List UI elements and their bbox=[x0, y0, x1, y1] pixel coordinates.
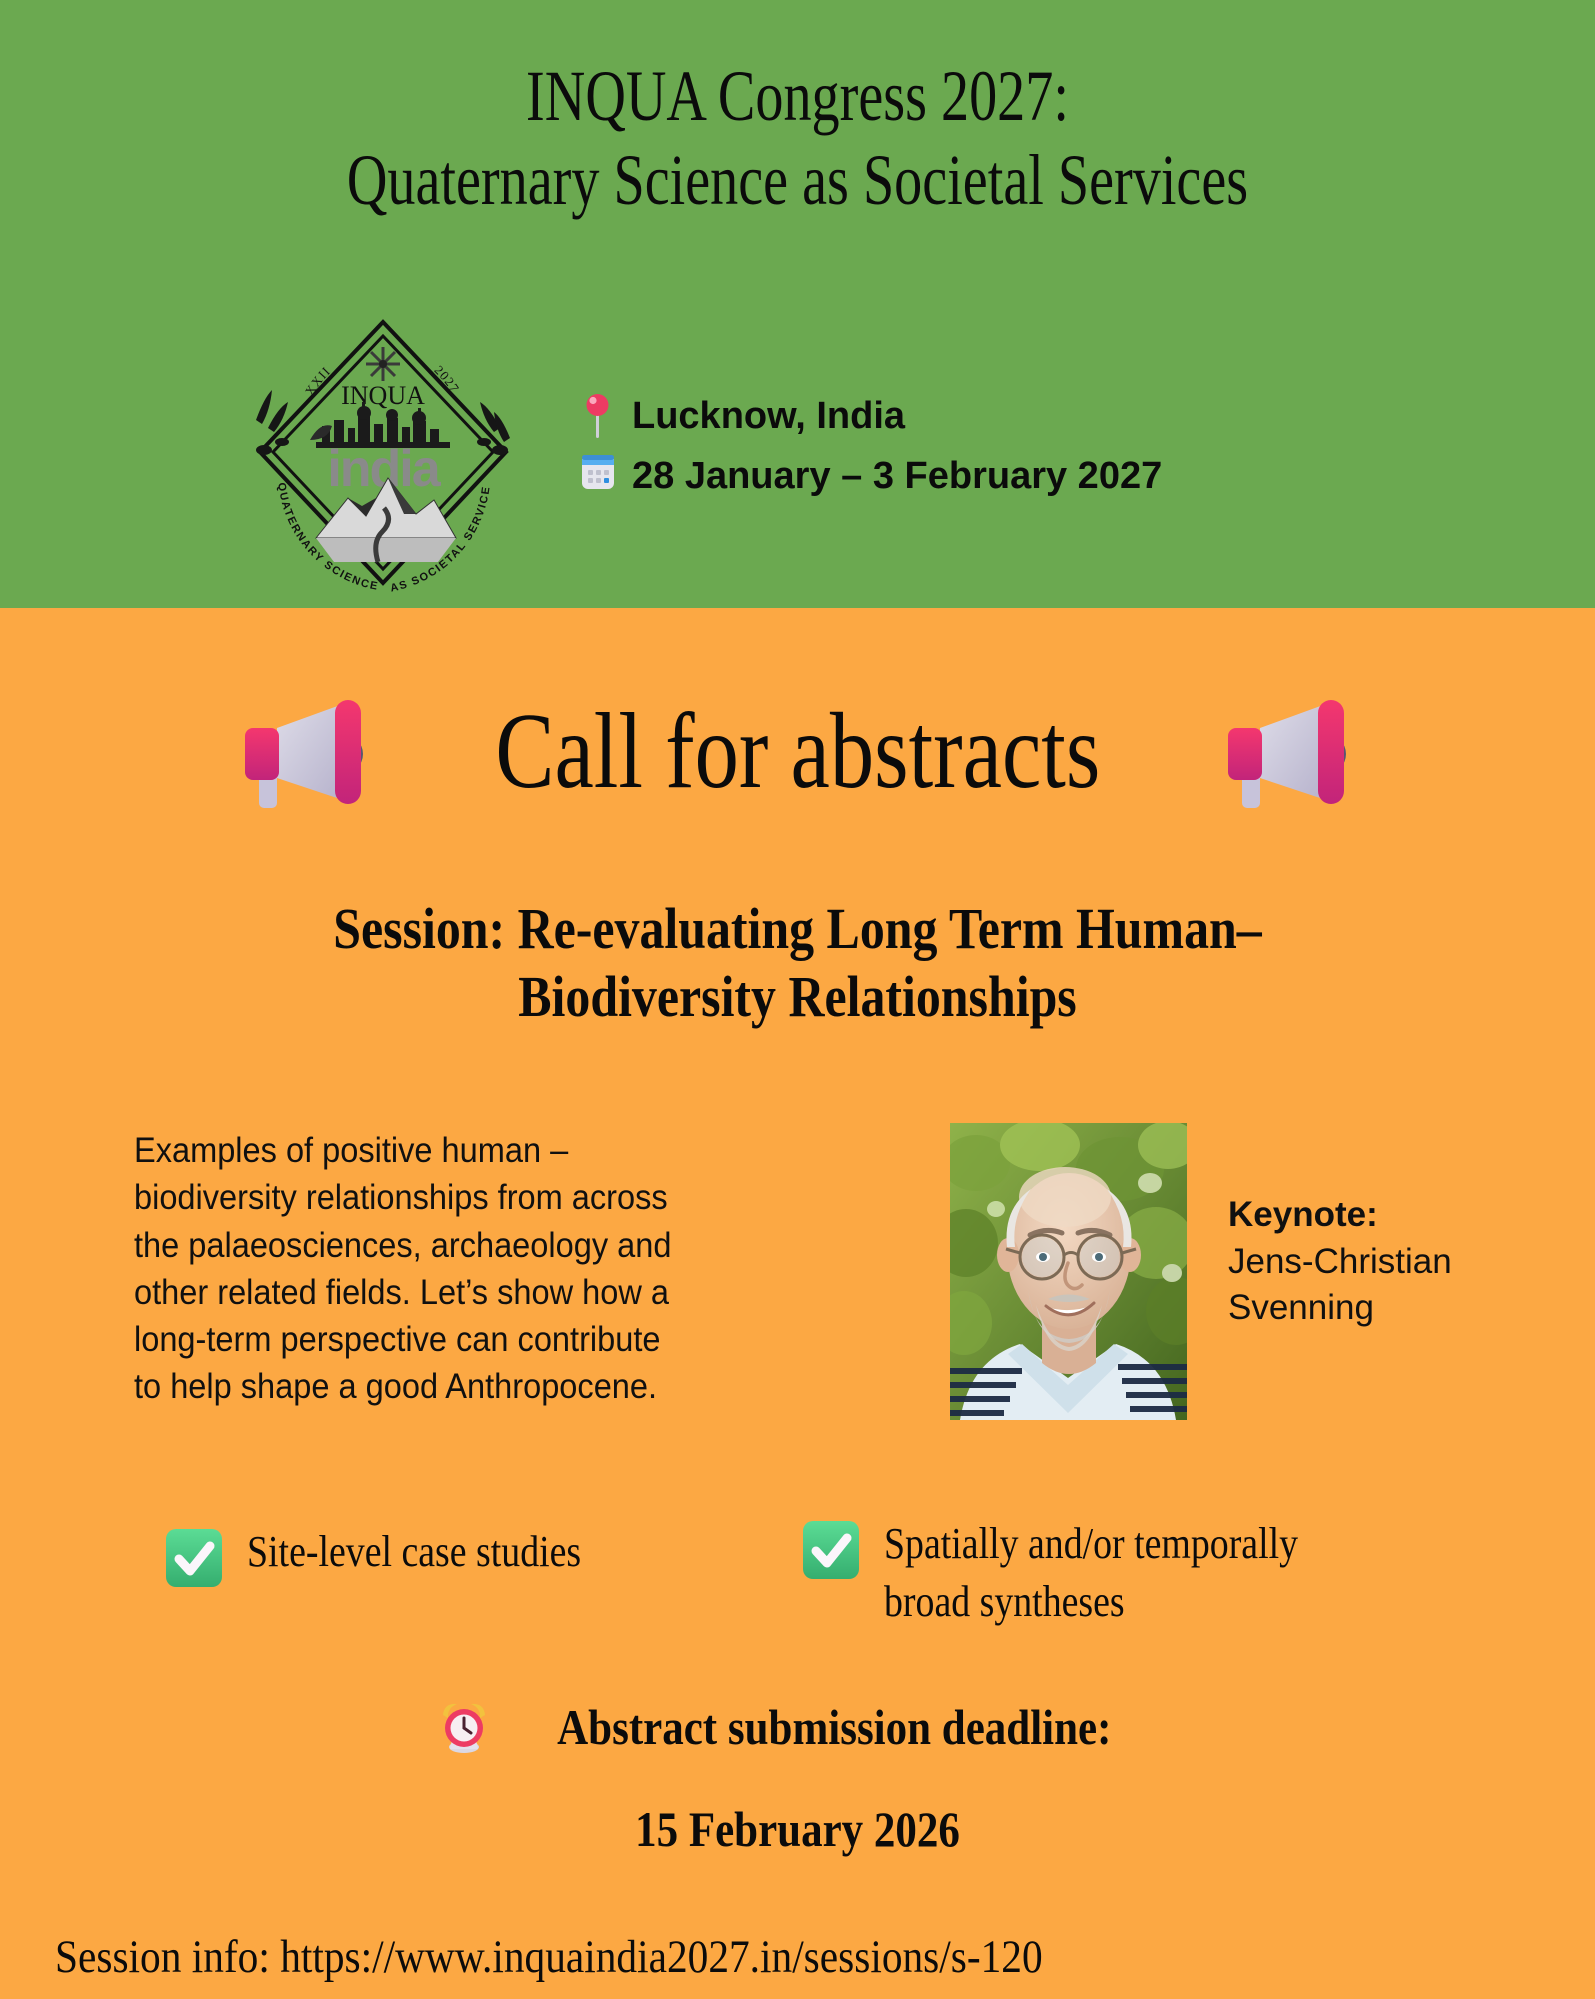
description-line-5: long-term perspective can contribute bbox=[134, 1316, 776, 1363]
inqua-india-logo: XXII 2027 INQUA india bbox=[238, 300, 528, 605]
abstract-types-list: Site-level case studies Spatially and/or… bbox=[0, 1523, 1595, 1663]
keynote-name-line-2: Svenning bbox=[1228, 1285, 1558, 1332]
list-item-label: Spatially and/or temporally broad synthe… bbox=[884, 1515, 1298, 1631]
keynote-speaker-photo bbox=[950, 1123, 1187, 1420]
session-description: Examples of positive human – biodiversit… bbox=[134, 1127, 776, 1411]
map-pin-icon bbox=[580, 392, 616, 440]
keynote-name-line-1: Jens-Christian bbox=[1228, 1239, 1558, 1286]
list-item-line-2: broad syntheses bbox=[884, 1573, 1298, 1631]
description-line-2: biodiversity relationships from across bbox=[134, 1174, 776, 1221]
list-item: Spatially and/or temporally broad synthe… bbox=[800, 1515, 1365, 1631]
list-item-line-1: Spatially and/or temporally bbox=[884, 1515, 1298, 1573]
megaphone-icon-left bbox=[231, 692, 381, 812]
keynote-info: Keynote: Jens-Christian Svenning bbox=[1228, 1192, 1558, 1332]
congress-title-line-2: Quaternary Science as Societal Services bbox=[175, 138, 1419, 222]
deadline-date: 15 February 2026 bbox=[112, 1800, 1484, 1858]
keynote-label: Keynote: bbox=[1228, 1192, 1558, 1239]
logo-inqua-text: INQUA bbox=[341, 381, 425, 410]
deadline-row: Abstract submission deadline: bbox=[0, 1698, 1595, 1756]
session-title: Session: Re-evaluating Long Term Human– … bbox=[172, 895, 1423, 1032]
megaphone-icon-right bbox=[1214, 692, 1364, 812]
venue-date-row: 28 January – 3 February 2027 bbox=[580, 452, 1280, 500]
call-for-abstracts-heading: Call for abstracts bbox=[495, 698, 1100, 806]
venue-date-text: 28 January – 3 February 2027 bbox=[632, 455, 1162, 498]
list-item: Site-level case studies bbox=[163, 1523, 636, 1589]
call-for-abstracts-row: Call for abstracts bbox=[0, 672, 1595, 832]
description-line-6: to help shape a good Anthropocene. bbox=[134, 1363, 776, 1410]
session-title-line-1: Session: Re-evaluating Long Term Human– bbox=[172, 895, 1423, 963]
check-mark-button-icon bbox=[800, 1519, 862, 1581]
venue-location-text: Lucknow, India bbox=[632, 395, 905, 438]
list-item-label: Site-level case studies bbox=[247, 1523, 581, 1581]
session-info-link[interactable]: Session info: https://www.inquaindia2027… bbox=[55, 1930, 1043, 1984]
deadline-label: Abstract submission deadline: bbox=[557, 1698, 1111, 1756]
calendar-icon bbox=[580, 452, 616, 500]
description-line-1: Examples of positive human – bbox=[134, 1127, 776, 1174]
description-line-4: other related fields. Let’s show how a bbox=[134, 1269, 776, 1316]
venue-location-row: Lucknow, India bbox=[580, 392, 1280, 440]
session-title-line-2: Biodiversity Relationships bbox=[172, 963, 1423, 1031]
list-item-line-1: Site-level case studies bbox=[247, 1523, 581, 1581]
check-mark-button-icon bbox=[163, 1527, 225, 1589]
venue-block: Lucknow, India 28 Jan bbox=[580, 392, 1280, 512]
congress-title: INQUA Congress 2027: Quaternary Science … bbox=[175, 54, 1419, 222]
congress-title-line-1: INQUA Congress 2027: bbox=[175, 54, 1419, 138]
poster-root: INQUA Congress 2027: Quaternary Science … bbox=[0, 0, 1595, 1999]
alarm-clock-icon bbox=[438, 1701, 490, 1753]
description-line-3: the palaeosciences, archaeology and bbox=[134, 1222, 776, 1269]
